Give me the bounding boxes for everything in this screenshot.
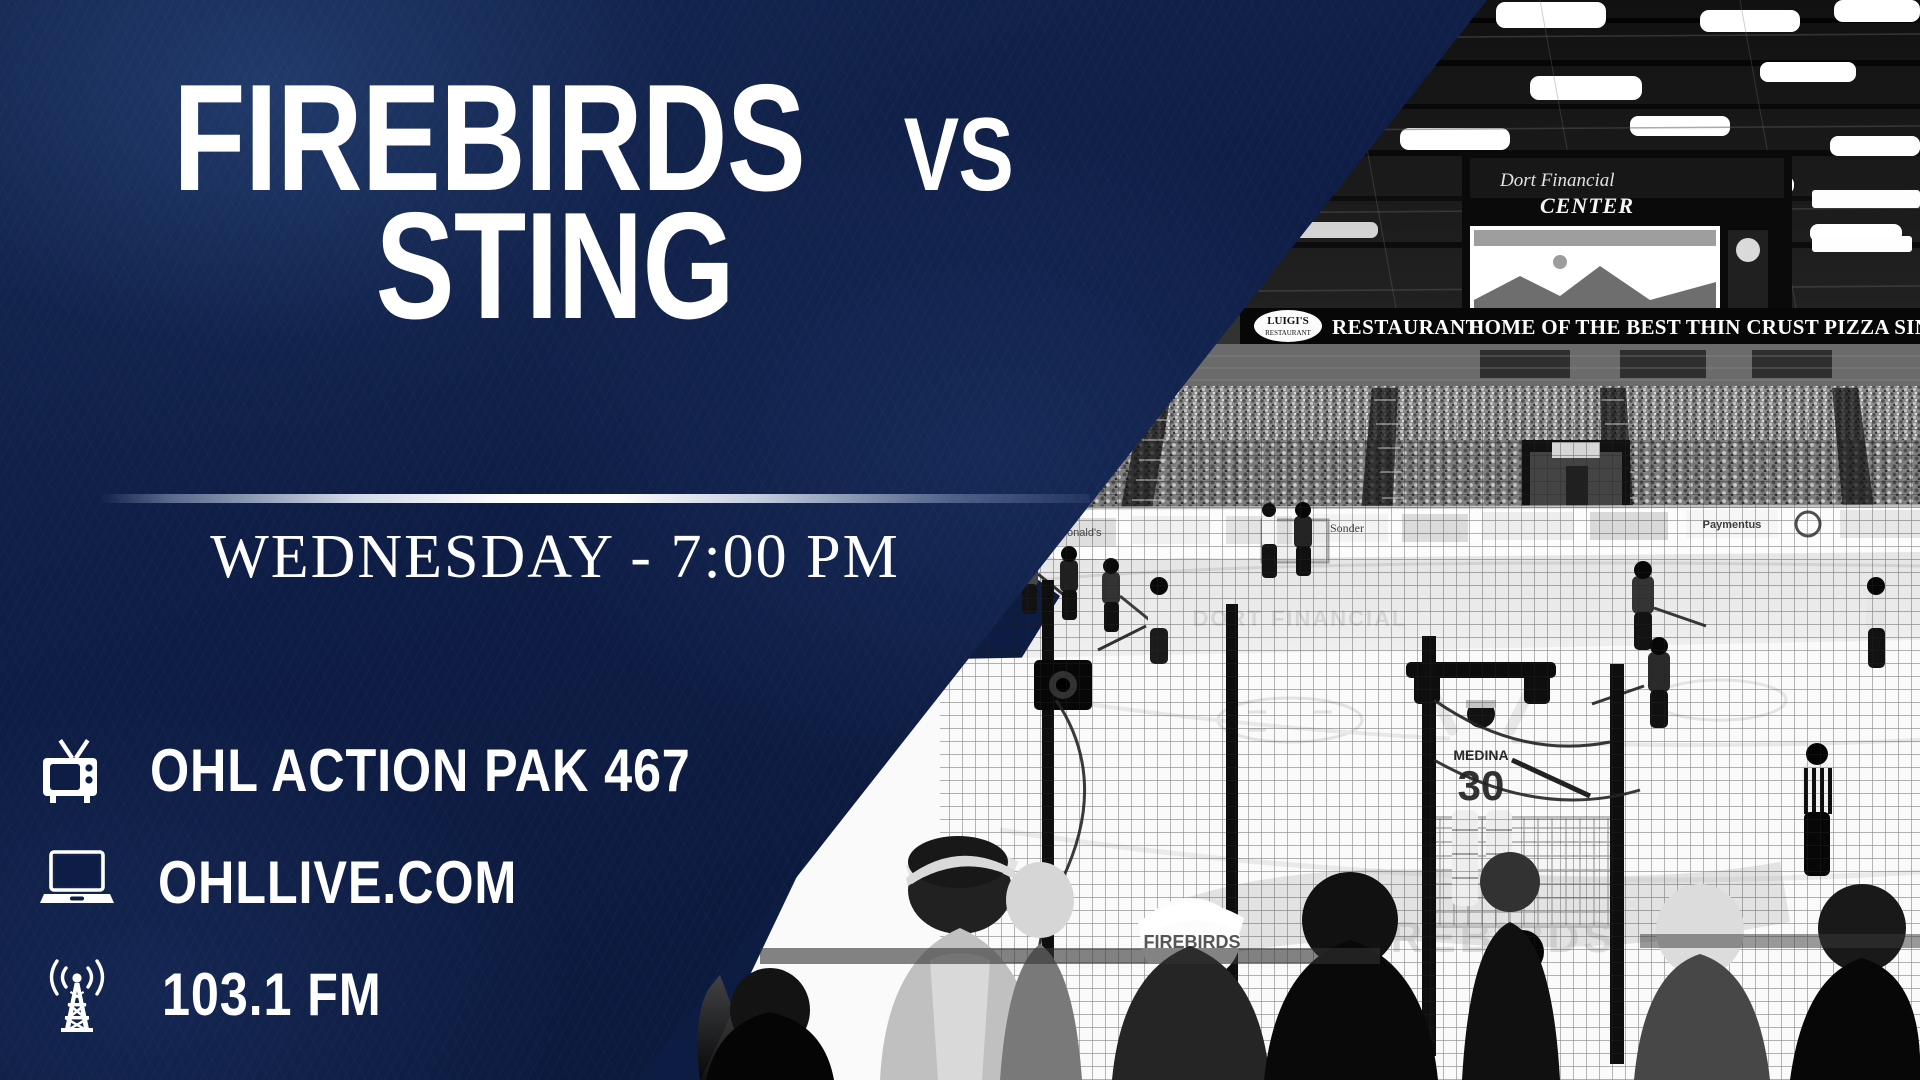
headline-block: FIREBIRDSVS STING xyxy=(0,72,1110,334)
broadcast-info-list: OHL ACTION PAK 467 OHLLIVE.COM xyxy=(34,722,794,1058)
broadcast-label-tv: OHL ACTION PAK 467 xyxy=(150,736,691,805)
versus-label: VS xyxy=(903,110,1012,202)
game-datetime: WEDNESDAY - 7:00 PM xyxy=(0,522,1110,593)
broadcast-label-radio: 103.1 FM xyxy=(162,960,382,1029)
away-team-name: STING xyxy=(376,200,734,334)
gradient-divider xyxy=(100,494,1090,503)
poster-content: FIREBIRDSVS STING WEDNESDAY - 7:00 PM xyxy=(0,0,1920,1080)
headline-line-two: STING xyxy=(0,200,1110,334)
broadcast-row-web: OHLLIVE.COM xyxy=(34,834,794,930)
broadcast-row-tv: OHL ACTION PAK 467 xyxy=(34,722,794,818)
broadcast-label-web: OHLLIVE.COM xyxy=(158,848,517,917)
game-promo-poster: Dort Financial CENTER WINDOW xyxy=(0,0,1920,1080)
laptop-icon xyxy=(34,841,120,923)
broadcast-row-radio: 103.1 FM xyxy=(34,946,794,1042)
television-icon xyxy=(34,729,120,811)
radio-tower-icon xyxy=(34,953,120,1035)
